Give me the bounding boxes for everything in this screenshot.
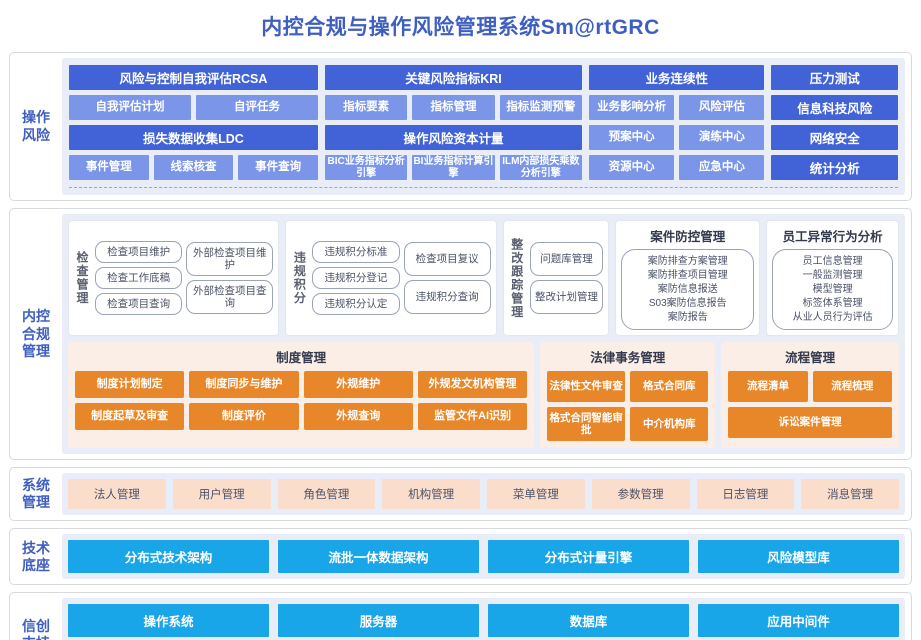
xinchuang-body: 操作系统 麒麟、统信、中科方德... 服务器 龙芯、兆芯、海思... 数据库 达…: [62, 598, 905, 640]
pill-violation-register[interactable]: 违规积分登记: [312, 267, 399, 289]
list-item: 一般监测管理: [803, 269, 863, 282]
oprisk-subrow: 指标要素 指标管理 指标监测预警: [325, 95, 582, 120]
btn-legal-entity-mgmt[interactable]: 法人管理: [68, 479, 166, 509]
xinchuang-label: 信创支持: [10, 593, 62, 640]
oprisk-item-kri-mgmt[interactable]: 指标管理: [412, 95, 494, 120]
list-item: 案防排查方案管理: [648, 255, 728, 268]
system-architecture-page: 内控合规与操作风险管理系统Sm@rtGRC 操作风险 风险与控制自我评估RCSA…: [0, 0, 921, 640]
violation-points-card: 违规积分 违规积分标准 违规积分登记 违规积分认定 检查项目复议 违规积分查询: [285, 220, 496, 336]
oprisk-item-clue-check[interactable]: 线索核查: [154, 155, 234, 180]
btn-litigation-case-mgmt[interactable]: 诉讼案件管理: [728, 407, 892, 438]
pill-inspection-review[interactable]: 检查项目复议: [404, 242, 491, 276]
system-mgmt-band: 系统管理 法人管理 用户管理 角色管理 机构管理 菜单管理 参数管理 日志管理 …: [9, 467, 912, 521]
btn-org-mgmt[interactable]: 机构管理: [382, 479, 480, 509]
xinchuang-group-server: 服务器 龙芯、兆芯、海思...: [278, 604, 479, 640]
case-prevention-card: 案件防控管理 案防排查方案管理 案防排查项目管理 案防信息报送 S03案防信息报…: [615, 220, 760, 336]
btn-message-mgmt[interactable]: 消息管理: [801, 479, 899, 509]
xinchuang-group-os: 操作系统 麒麟、统信、中科方德...: [68, 604, 269, 640]
pill-external-inspection-maintain[interactable]: 外部检查项目维护: [186, 242, 273, 276]
oprisk-subrow: 事件管理 线索核查 事件查询: [69, 155, 318, 180]
btn-parameter-mgmt[interactable]: 参数管理: [592, 479, 690, 509]
oprisk-header-ldc[interactable]: 损失数据收集LDC: [69, 125, 318, 150]
list-item: 案防信息报送: [658, 283, 718, 296]
oprisk-column-kri: 关键风险指标KRI 指标要素 指标管理 指标监测预警 操作风险资本计量 BIC业…: [325, 65, 582, 180]
oprisk-item-bi-engine[interactable]: BI业务指标计算引擎: [412, 155, 494, 180]
btn-policy-draft-review[interactable]: 制度起草及审查: [75, 403, 184, 430]
btn-standard-contract-library[interactable]: 格式合同库: [630, 371, 708, 402]
btn-external-issuing-org[interactable]: 外规发文机构管理: [418, 371, 527, 398]
oprisk-item-risk-assessment[interactable]: 风险评估: [679, 95, 764, 120]
btn-role-mgmt[interactable]: 角色管理: [278, 479, 376, 509]
oprisk-item-bia[interactable]: 业务影响分析: [589, 95, 674, 120]
oprisk-column-rcsa: 风险与控制自我评估RCSA 自我评估计划 自评任务 损失数据收集LDC 事件管理…: [69, 65, 318, 180]
oprisk-header-rcsa[interactable]: 风险与控制自我评估RCSA: [69, 65, 318, 90]
pill-issue-library[interactable]: 问题库管理: [530, 242, 604, 276]
btn-regulatory-ai-recognition[interactable]: 监管文件AI识别: [418, 403, 527, 430]
policy-mgmt-title: 制度管理: [75, 347, 527, 366]
process-mgmt-card: 流程管理 流程清单 流程梳理 诉讼案件管理: [721, 342, 899, 448]
oprisk-item-kri-elements[interactable]: 指标要素: [325, 95, 407, 120]
xinchuang-band: 信创支持 操作系统 麒麟、统信、中科方德... 服务器 龙芯、兆芯、海思... …: [9, 592, 912, 640]
pill-inspection-workpaper[interactable]: 检查工作底稿: [95, 267, 182, 289]
btn-operating-system[interactable]: 操作系统: [68, 604, 269, 637]
operational-risk-body: 风险与控制自我评估RCSA 自我评估计划 自评任务 损失数据收集LDC 事件管理…: [62, 58, 905, 195]
list-item: 从业人员行为评估: [793, 311, 873, 324]
system-mgmt-label: 系统管理: [10, 468, 62, 520]
btn-process-combing[interactable]: 流程梳理: [813, 371, 892, 402]
list-item: 模型管理: [813, 283, 853, 296]
pill-rectification-plan[interactable]: 整改计划管理: [530, 280, 604, 314]
legal-mgmt-title: 法律事务管理: [547, 347, 708, 366]
oprisk-subrow: 自我评估计划 自评任务: [69, 95, 318, 120]
btn-distributed-measurement-engine[interactable]: 分布式计量引擎: [488, 540, 689, 573]
pill-external-inspection-query[interactable]: 外部检查项目查询: [186, 280, 273, 314]
oprisk-item-ilm-engine[interactable]: ILM内部损失乘数分析引擎: [500, 155, 582, 180]
btn-policy-plan[interactable]: 制度计划制定: [75, 371, 184, 398]
violation-points-label: 违规积分: [291, 226, 308, 330]
btn-menu-mgmt[interactable]: 菜单管理: [487, 479, 585, 509]
btn-intermediary-library[interactable]: 中介机构库: [630, 407, 708, 441]
internal-control-label: 内控合规管理: [10, 209, 62, 459]
btn-app-middleware[interactable]: 应用中间件: [698, 604, 899, 637]
section-divider: [69, 187, 898, 188]
oprisk-column-business-continuity: 业务连续性 业务影响分析 风险评估 预案中心 演练中心 资源中心 应急中心: [589, 65, 764, 180]
btn-policy-sync-maintain[interactable]: 制度同步与维护: [189, 371, 298, 398]
oprisk-subrow: 资源中心 应急中心: [589, 155, 764, 180]
case-prevention-list[interactable]: 案防排查方案管理 案防排查项目管理 案防信息报送 S03案防信息报告 案防报告: [621, 249, 754, 330]
btn-user-mgmt[interactable]: 用户管理: [173, 479, 271, 509]
oprisk-header-kri[interactable]: 关键风险指标KRI: [325, 65, 582, 90]
operational-risk-label: 操作风险: [10, 53, 62, 200]
label-line-1: 操作风险: [22, 109, 50, 143]
tech-base-body: 分布式技术架构 流批一体数据架构 分布式计量引擎 风险模型库: [62, 534, 905, 579]
btn-external-rule-query[interactable]: 外规查询: [304, 403, 413, 430]
legal-mgmt-card: 法律事务管理 法律性文件审查 格式合同库 格式合同智能审批 中介机构库: [540, 342, 715, 448]
oprisk-item-network-security[interactable]: 网络安全: [771, 125, 898, 150]
list-item: 案防报告: [668, 311, 708, 324]
internal-control-body: 检查管理 检查项目维护 检查工作底稿 检查项目查询 外部检查项目维护 外部检查项…: [62, 214, 905, 454]
xinchuang-group-database: 数据库 达梦、人大金仓、OcenBase...: [488, 604, 689, 640]
oprisk-item-event-mgmt[interactable]: 事件管理: [69, 155, 149, 180]
policy-mgmt-card: 制度管理 制度计划制定 制度同步与维护 外规维护 外规发文机构管理 制度起草及审…: [68, 342, 534, 448]
tech-base-label: 技术底座: [10, 529, 62, 584]
employee-behavior-title: 员工异常行为分析: [772, 226, 893, 245]
oprisk-item-plan-center[interactable]: 预案中心: [589, 125, 674, 150]
oprisk-item-stress-test[interactable]: 压力测试: [771, 65, 898, 90]
case-prevention-title: 案件防控管理: [621, 226, 754, 245]
oprisk-item-event-query[interactable]: 事件查询: [238, 155, 318, 180]
oprisk-subrow: BIC业务指标分析引擎 BI业务指标计算引擎 ILM内部损失乘数分析引擎: [325, 155, 582, 180]
btn-database[interactable]: 数据库: [488, 604, 689, 637]
oprisk-item-statistics[interactable]: 统计分析: [771, 155, 898, 180]
internal-control-band: 内控合规管理 检查管理 检查项目维护 检查工作底稿 检查项目查询 外部检查项目维…: [9, 208, 912, 460]
pill-inspection-item-query[interactable]: 检查项目查询: [95, 293, 182, 315]
pill-inspection-item-maintain[interactable]: 检查项目维护: [95, 241, 182, 263]
tech-base-band: 技术底座 分布式技术架构 流批一体数据架构 分布式计量引擎 风险模型库: [9, 528, 912, 585]
oprisk-item-resource-center[interactable]: 资源中心: [589, 155, 674, 180]
process-mgmt-title: 流程管理: [728, 347, 892, 366]
btn-policy-evaluation[interactable]: 制度评价: [189, 403, 298, 430]
oprisk-header-business-continuity[interactable]: 业务连续性: [589, 65, 764, 90]
inspection-mgmt-card: 检查管理 检查项目维护 检查工作底稿 检查项目查询 外部检查项目维护 外部检查项…: [68, 220, 279, 336]
btn-legal-doc-review[interactable]: 法律性文件审查: [547, 371, 625, 402]
oprisk-item-it-risk[interactable]: 信息科技风险: [771, 95, 898, 120]
oprisk-item-emergency-center[interactable]: 应急中心: [679, 155, 764, 180]
oprisk-item-kri-monitor-alert[interactable]: 指标监测预警: [500, 95, 582, 120]
btn-server[interactable]: 服务器: [278, 604, 479, 637]
list-item: 标签体系管理: [803, 297, 863, 310]
oprisk-item-drill-center[interactable]: 演练中心: [679, 125, 764, 150]
btn-stream-batch-data-arch[interactable]: 流批一体数据架构: [278, 540, 479, 573]
page-header: 内控合规与操作风险管理系统Sm@rtGRC: [0, 0, 921, 52]
oprisk-subrow: 业务影响分析 风险评估: [589, 95, 764, 120]
pill-violation-confirm[interactable]: 违规积分认定: [312, 293, 399, 315]
employee-behavior-list[interactable]: 员工信息管理 一般监测管理 模型管理 标签体系管理 从业人员行为评估: [772, 249, 893, 330]
oprisk-column-misc: 压力测试 信息科技风险 网络安全 统计分析: [771, 65, 898, 180]
pill-violation-standard[interactable]: 违规积分标准: [312, 241, 399, 263]
xinchuang-group-middleware: 应用中间件 东方通、宝兰德、中创...: [698, 604, 899, 640]
inspection-mgmt-label: 检查管理: [74, 226, 91, 330]
employee-behavior-card: 员工异常行为分析 员工信息管理 一般监测管理 模型管理 标签体系管理 从业人员行…: [766, 220, 899, 336]
oprisk-subrow: 预案中心 演练中心: [589, 125, 764, 150]
btn-distributed-tech-arch[interactable]: 分布式技术架构: [68, 540, 269, 573]
oprisk-item-self-assessment-task[interactable]: 自评任务: [196, 95, 318, 120]
rectification-tracking-card: 整改跟踪管理 问题库管理 整改计划管理: [503, 220, 610, 336]
page-title: 内控合规与操作风险管理系统Sm@rtGRC: [261, 11, 660, 41]
operational-risk-band: 操作风险 风险与控制自我评估RCSA 自我评估计划 自评任务 损失数据收集LDC…: [9, 52, 912, 201]
rectification-tracking-label: 整改跟踪管理: [509, 226, 526, 330]
pill-violation-query[interactable]: 违规积分查询: [404, 280, 491, 314]
oprisk-item-bic-engine[interactable]: BIC业务指标分析引擎: [325, 155, 407, 180]
btn-process-list[interactable]: 流程清单: [728, 371, 807, 402]
list-item: 员工信息管理: [803, 255, 863, 268]
oprisk-item-self-assessment-plan[interactable]: 自我评估计划: [69, 95, 191, 120]
btn-log-mgmt[interactable]: 日志管理: [697, 479, 795, 509]
system-mgmt-body: 法人管理 用户管理 角色管理 机构管理 菜单管理 参数管理 日志管理 消息管理: [62, 473, 905, 515]
oprisk-header-capital-measurement[interactable]: 操作风险资本计量: [325, 125, 582, 150]
btn-risk-model-library[interactable]: 风险模型库: [698, 540, 899, 573]
list-item: 案防排查项目管理: [648, 269, 728, 282]
btn-external-rule-maintain[interactable]: 外规维护: [304, 371, 413, 398]
list-item: S03案防信息报告: [649, 297, 727, 310]
btn-standard-contract-ai-approval[interactable]: 格式合同智能审批: [547, 407, 625, 441]
